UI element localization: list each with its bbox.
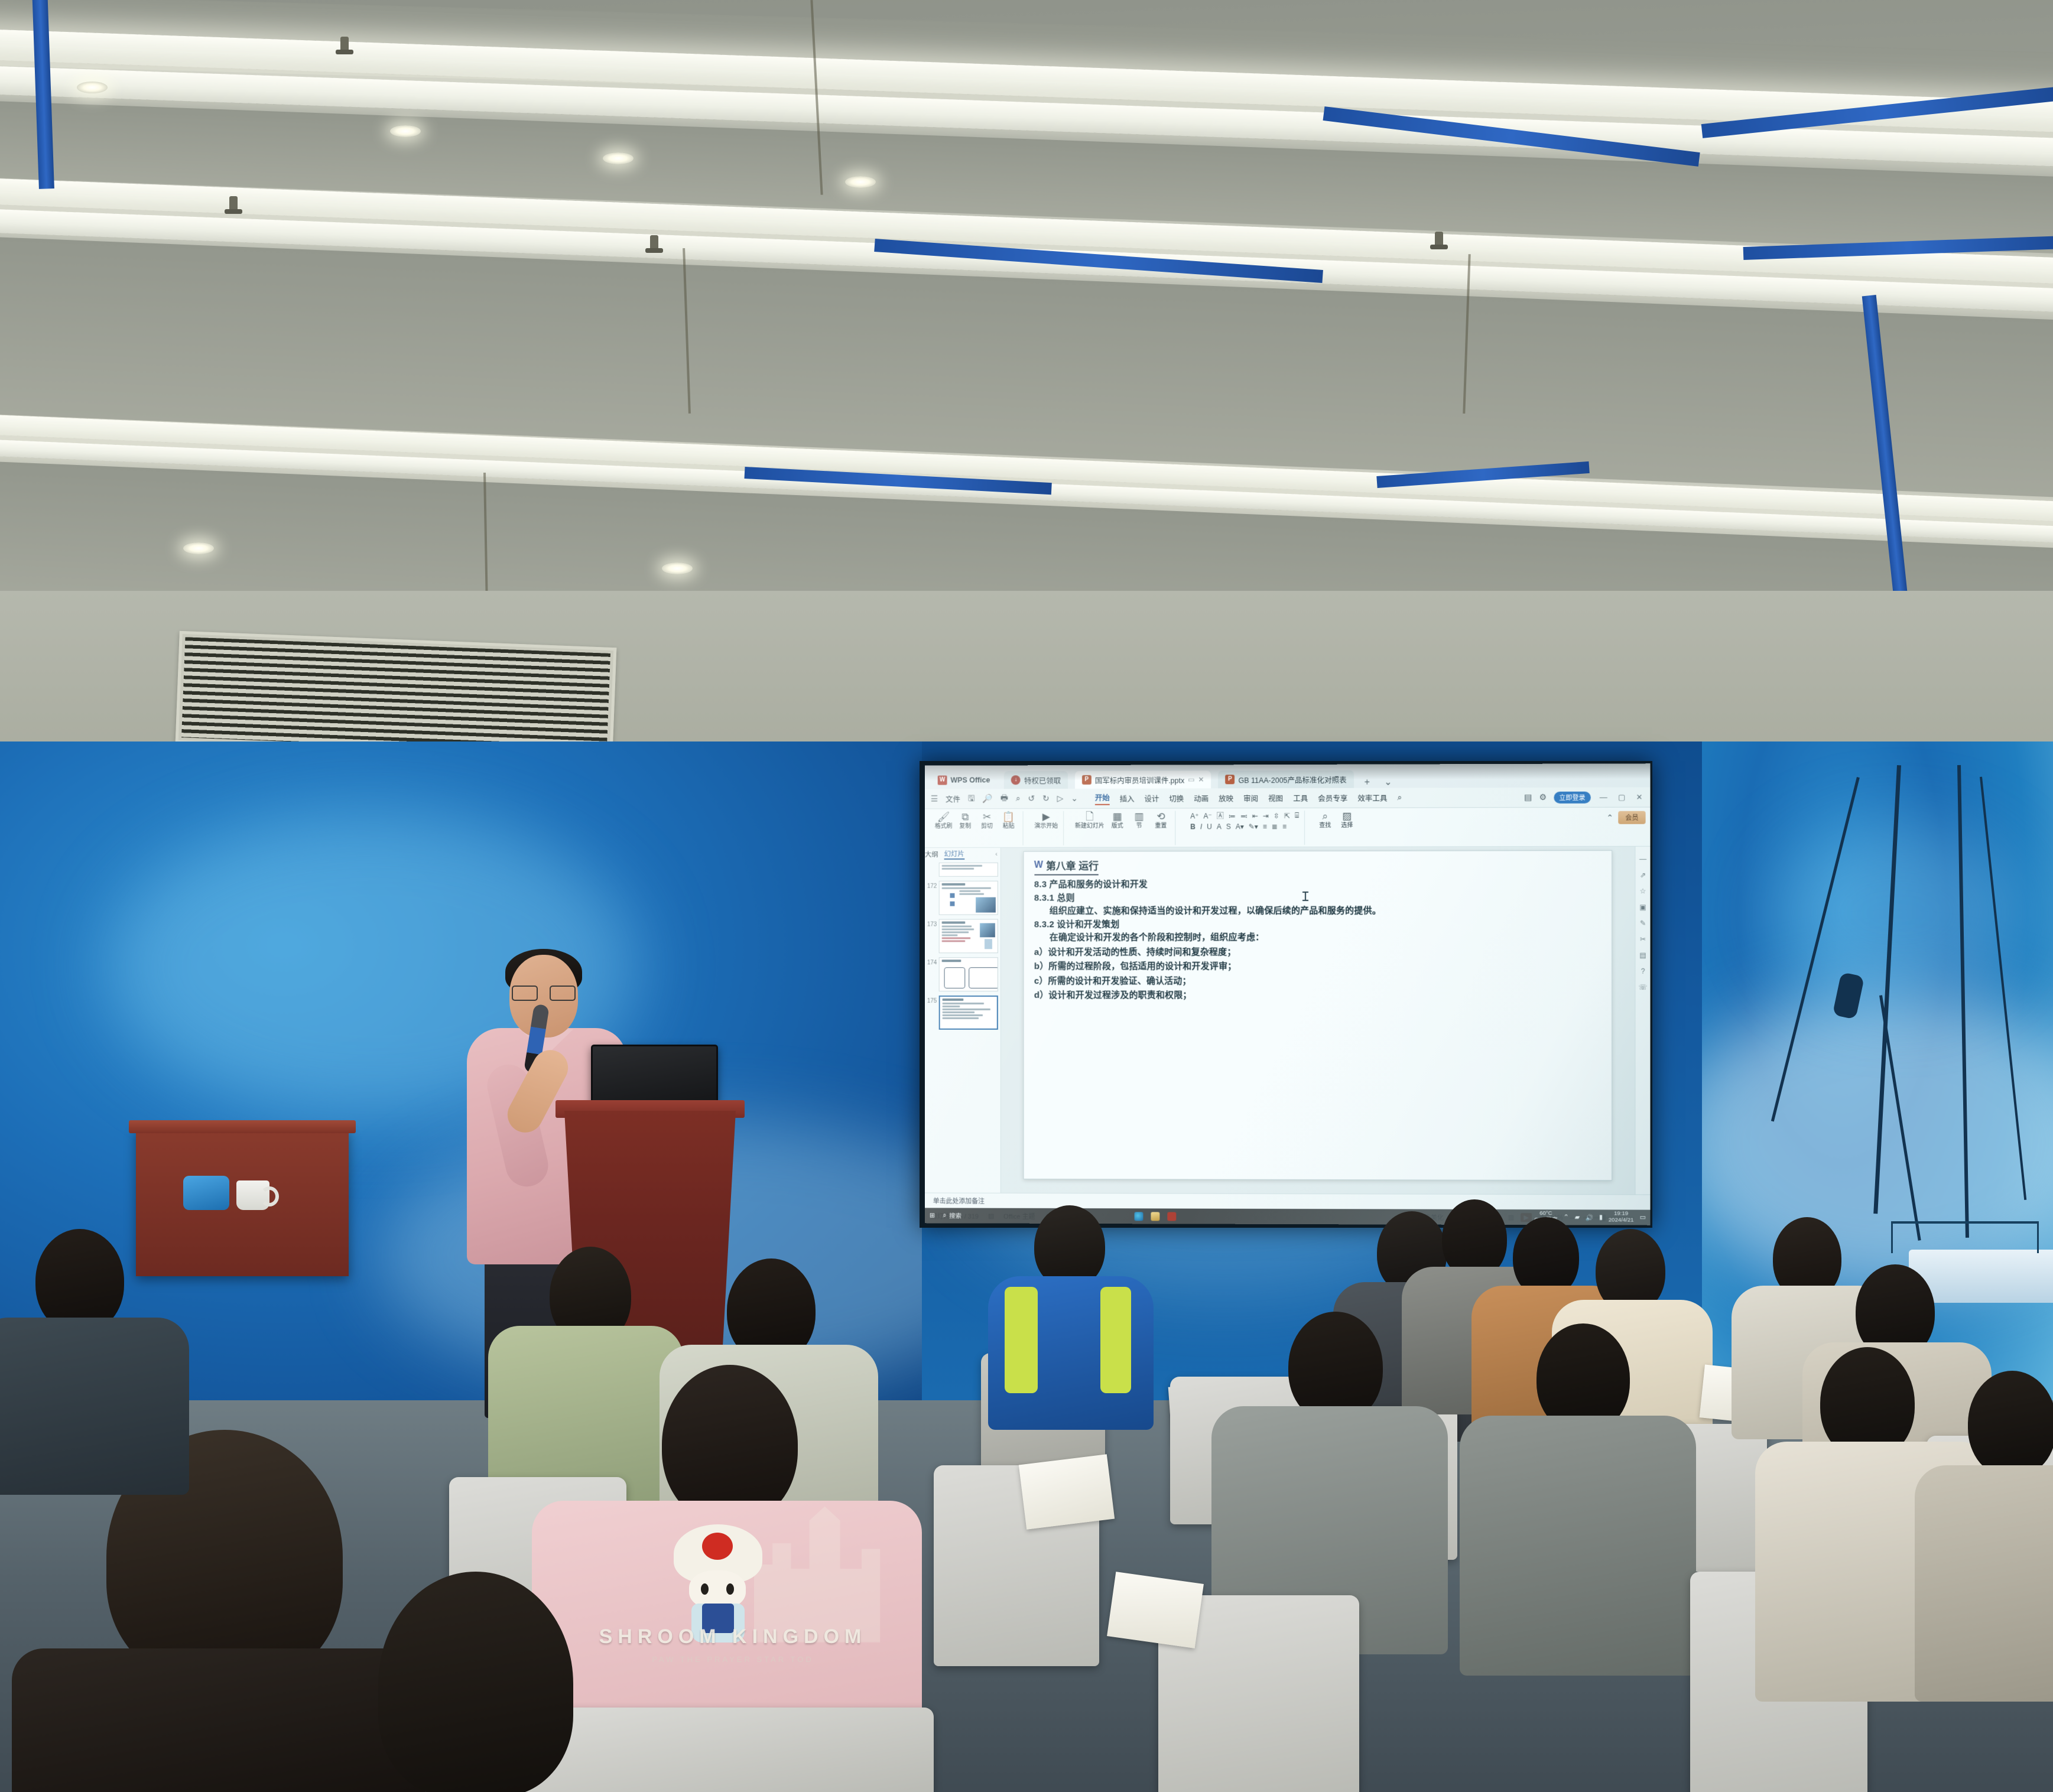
ribbon-tab-design[interactable]: 设计 — [1144, 793, 1159, 804]
print-preview-icon[interactable]: 🔎 — [983, 793, 993, 804]
slide-line: 8.3.1 总则 — [1034, 891, 1602, 905]
ribbon-group-editing: ⌕ 查找 ▨ 选择 — [1311, 811, 1361, 845]
slide-number — [927, 863, 937, 865]
slide-thumbnail-list[interactable]: 172 — [925, 861, 1000, 1193]
layout-icon: ▦ — [1113, 811, 1122, 823]
sprinkler-head — [229, 196, 238, 214]
new-slide-label: 新建幻灯片 — [1075, 823, 1105, 831]
wps-watermark-icon: W — [1034, 860, 1042, 870]
find-icon: ⌕ — [1322, 811, 1328, 822]
search-icon: ⌕ — [943, 1212, 946, 1219]
projection-screen: W WPS Office ↓ 特权已领取 P 国军标内审员培训课件.pptx ▭… — [925, 763, 1651, 1225]
ribbon-right-controls[interactable]: ⌃ 会员 — [1606, 810, 1645, 824]
taskbar-apps[interactable] — [1134, 1212, 1176, 1221]
close-button[interactable]: ✕ — [1635, 792, 1645, 802]
start-show-button[interactable]: ▶ 演示开始 — [1034, 811, 1058, 830]
edit-icon[interactable]: ✎ — [1640, 919, 1646, 927]
new-slide-icon: 🗋 — [1086, 811, 1094, 823]
ribbon-tab-membership[interactable]: 会员专享 — [1318, 792, 1347, 804]
clock-date: 2024/4/21 — [1609, 1217, 1634, 1224]
ribbon-toolbar[interactable]: 🖌 格式刷 ⧉ 复制 ✂ 剪切 📋 粘贴 — [925, 808, 1651, 848]
ribbon-tab-transitions[interactable]: 切换 — [1169, 792, 1184, 804]
layout-button[interactable]: ▦ 版式 — [1109, 811, 1126, 830]
reset-button[interactable]: ⟲ 重置 — [1152, 811, 1170, 830]
slide-number: 172 — [927, 881, 937, 890]
slide-thumbnail[interactable] — [939, 881, 998, 915]
right-sidebar-rail[interactable]: — ⇗ ☆ ▣ ✎ ✂ ▤ ? ☏ — [1635, 847, 1650, 1195]
slide-thumbnail[interactable] — [939, 919, 998, 953]
notification-icon[interactable]: ▭ — [1640, 1214, 1646, 1221]
undo-icon[interactable]: ↺ — [1028, 793, 1035, 804]
slide-line: 在确定设计和开发的各个阶段和控制时，组织应考虑： — [1034, 931, 1602, 945]
start-show-label: 演示开始 — [1034, 823, 1058, 831]
notes-placeholder: 单击此处添加备注 — [933, 1196, 985, 1205]
decrease-font-icon[interactable]: A⁻ — [1204, 812, 1212, 820]
screen-top-shadow — [925, 763, 1651, 780]
save-icon[interactable]: 🖫 — [968, 792, 975, 806]
toad-character-icon — [674, 1524, 762, 1643]
document-icon[interactable]: ▤ — [1524, 792, 1532, 802]
cut-label: 剪切 — [981, 823, 993, 830]
search-icon[interactable]: ⌕ — [1397, 793, 1402, 803]
paste-button[interactable]: 📋 粘贴 — [1000, 811, 1018, 830]
find-label: 查找 — [1319, 822, 1331, 830]
section-button[interactable]: ▥ 节 — [1131, 811, 1148, 831]
battery-icon[interactable]: ▮ — [1599, 1214, 1603, 1221]
toad-eye — [726, 1583, 734, 1595]
minimize-rail-icon[interactable]: — — [1639, 855, 1646, 863]
reset-icon: ⟲ — [1157, 811, 1165, 822]
ribbon-group-font: A⁺ A⁻ 🄰 ≔ ≕ ⇤ ⇥ ⇳ ⇱ ⌸ — [1181, 811, 1305, 845]
cut-icon: ✂ — [983, 811, 991, 823]
slide-thumbnail[interactable] — [939, 957, 998, 991]
align-center-icon: ≣ — [1272, 822, 1278, 831]
slide-line: 8.3 产品和服务的设计和开发 — [1034, 877, 1602, 892]
copy-label: 复制 — [959, 823, 971, 830]
quick-access-bar[interactable]: ☰ 文件 🖫 🔎 🖶 ⌕ ↺ ↻ ▷ ⌄ 开始 插入 设计 切换 动画 — [925, 787, 1651, 809]
list-item[interactable]: 174 — [927, 957, 998, 991]
handout-paper — [1019, 1454, 1115, 1529]
wps-icon[interactable] — [1167, 1212, 1176, 1221]
sprinkler-head — [1435, 232, 1443, 249]
ribbon-tab-view[interactable]: 视图 — [1268, 792, 1283, 804]
help-icon[interactable]: ? — [1641, 967, 1645, 975]
bullet-list-icon: ≔ — [1229, 812, 1236, 820]
wps-office-window[interactable]: W WPS Office ↓ 特权已领取 P 国军标内审员培训课件.pptx ▭… — [925, 763, 1651, 1225]
taskbar-search[interactable]: ⌕ 搜索 — [943, 1211, 961, 1220]
library-icon[interactable]: ▤ — [1639, 951, 1646, 960]
blue-bag — [183, 1176, 229, 1210]
classroom-scene: W WPS Office ↓ 特权已领取 P 国军标内审员培训课件.pptx ▭… — [0, 0, 2053, 1792]
slide-line: 组织应建立、实施和保持适当的设计和开发过程，以确保后续的产品和服务的提供。 — [1034, 904, 1602, 918]
shadow-button[interactable]: A — [1217, 822, 1222, 831]
line-spacing-icon: ⇳ — [1274, 812, 1279, 820]
ribbon-tab-slideshow[interactable]: 放映 — [1219, 792, 1233, 804]
tab-slides[interactable]: 幻灯片 — [944, 849, 964, 860]
sailboat-rail — [1891, 1221, 2039, 1253]
copy-button[interactable]: ⧉ 复制 — [956, 811, 974, 830]
favorite-icon[interactable]: ☆ — [1640, 887, 1646, 895]
paste-icon: 📋 — [1002, 811, 1015, 823]
settings-icon[interactable]: ⚙ — [1539, 792, 1547, 802]
play-icon[interactable]: ▷ — [1057, 793, 1064, 804]
select-label: 选择 — [1341, 822, 1353, 830]
projection-screen-frame: W WPS Office ↓ 特权已领取 P 国军标内审员培训课件.pptx ▭… — [920, 761, 1652, 1228]
tshirt-graphic: SHROOM KINGDOM PAW THE PRAYER STAR TOD — [579, 1489, 886, 1666]
chevron-down-icon[interactable]: ⌄ — [1071, 793, 1078, 804]
align-left-icon: ≡ — [1263, 822, 1267, 831]
align-text-icon: ⌸ — [1295, 811, 1299, 820]
redo-icon[interactable]: ↻ — [1042, 793, 1050, 804]
slide-navigator-panel[interactable]: 大纲 幻灯片 ‹ — [925, 848, 1001, 1193]
window-controls[interactable]: ▤ ⚙ 立即登录 — ▢ ✕ — [1524, 791, 1644, 804]
ceiling-downlight — [183, 542, 214, 554]
select-button[interactable]: ▨ 选择 — [1338, 811, 1356, 830]
font-controls[interactable]: A⁺ A⁻ 🄰 ≔ ≕ ⇤ ⇥ ⇳ ⇱ ⌸ — [1187, 811, 1299, 831]
volume-icon[interactable]: 🔊 — [1586, 1214, 1593, 1221]
slide-line: 8.3.2 设计和开发策划 — [1034, 918, 1602, 931]
menu-icon[interactable]: ☰ — [931, 793, 938, 804]
format-painter-label: 格式刷 — [935, 823, 953, 831]
windows-start-icon[interactable]: ⊞ — [930, 1212, 935, 1219]
copy-icon: ⧉ — [961, 811, 969, 823]
login-button[interactable]: 立即登录 — [1554, 791, 1590, 803]
text-cursor-icon — [1305, 892, 1306, 901]
toad-eye — [701, 1583, 709, 1595]
collapse-ribbon-icon[interactable]: ⌃ — [1606, 812, 1613, 822]
decrease-indent-icon: ⇤ — [1252, 812, 1258, 820]
select-icon: ▨ — [1342, 811, 1352, 822]
chevron-left-icon[interactable]: ‹ — [995, 851, 998, 858]
highlight-icon: ✎▾ — [1249, 822, 1258, 831]
navigator-tabs[interactable]: 大纲 幻灯片 ‹ — [925, 848, 1000, 861]
slide-number: 175 — [927, 996, 937, 1004]
share-icon[interactable]: ⇗ — [1640, 871, 1646, 879]
slide-line: b）所需的过程阶段，包括适用的设计和开发评审； — [1034, 960, 1602, 974]
ceiling-downlight — [390, 125, 421, 137]
font-row-top[interactable]: A⁺ A⁻ 🄰 ≔ ≕ ⇤ ⇥ ⇳ ⇱ ⌸ — [1190, 811, 1299, 821]
picture-icon[interactable]: ▣ — [1639, 903, 1646, 911]
handout-paper — [1107, 1572, 1204, 1648]
feedback-icon[interactable]: ☏ — [1638, 983, 1647, 991]
format-painter-icon: 🖌 — [937, 811, 950, 823]
search-doc-icon[interactable]: ⌕ — [1016, 793, 1021, 804]
increase-indent-icon: ⇥ — [1263, 812, 1269, 820]
text-direction-icon: ⇱ — [1284, 811, 1290, 819]
tools-icon[interactable]: ✂ — [1640, 935, 1646, 944]
slide-line: a）设计和开发活动的性质、持续时间和复杂程度； — [1034, 945, 1602, 959]
cpu-temp-value: 60°C — [1539, 1210, 1552, 1217]
network-icon[interactable]: ▰ — [1575, 1214, 1580, 1221]
section-label: 节 — [1136, 823, 1142, 830]
notes-pane[interactable]: 单击此处添加备注 — [925, 1192, 1651, 1209]
clock-time: 19:19 — [1614, 1211, 1628, 1217]
paste-label: 粘贴 — [1003, 823, 1015, 830]
current-slide[interactable]: W 第八章 运行 8.3 产品和服务的设计和开发 8.3.1 总则 组织应建立、… — [1023, 850, 1613, 1180]
align-right-icon: ≡ — [1282, 822, 1287, 831]
file-menu-button[interactable]: 文件 — [946, 793, 960, 804]
slide-thumbnail-selected[interactable] — [939, 996, 998, 1030]
font-color-icon: A▾ — [1236, 822, 1244, 831]
slide-number: 173 — [927, 919, 937, 928]
ribbon-tab-home[interactable]: 开始 — [1095, 792, 1110, 805]
ribbon-tab-animations[interactable]: 动画 — [1194, 792, 1209, 804]
maximize-button[interactable]: ▢ — [1616, 792, 1627, 802]
slide-line: c）所需的设计和开发验证、确认活动； — [1034, 974, 1602, 988]
reset-label: 重置 — [1155, 822, 1167, 830]
hvac-vent — [176, 631, 617, 760]
minimize-button[interactable]: — — [1598, 793, 1609, 802]
tab-outline[interactable]: 大纲 — [925, 850, 938, 859]
ceiling-downlight — [845, 176, 876, 188]
list-item[interactable]: 173 — [927, 919, 998, 953]
toad-cap-spot — [702, 1533, 733, 1560]
layout-label: 版式 — [1112, 823, 1123, 831]
ceiling-downlight — [77, 82, 108, 93]
underline-button[interactable]: U — [1207, 822, 1212, 831]
slide-canvas-area[interactable]: W 第八章 运行 8.3 产品和服务的设计和开发 8.3.1 总则 组织应建立、… — [1001, 847, 1635, 1195]
ribbon-tab-review[interactable]: 审阅 — [1243, 792, 1258, 804]
print-icon[interactable]: 🖶 — [1000, 792, 1008, 806]
numbered-list-icon: ≕ — [1240, 812, 1248, 820]
increase-font-icon[interactable]: A⁺ — [1190, 812, 1198, 820]
editor-body: 大纲 幻灯片 ‹ — [925, 847, 1651, 1195]
glasses-icon — [512, 986, 576, 999]
bold-button[interactable]: B — [1190, 822, 1196, 831]
cut-button[interactable]: ✂ 剪切 — [978, 811, 996, 830]
strikethrough-button[interactable]: S — [1226, 822, 1231, 831]
ribbon-tab-efficiency[interactable]: 效率工具 — [1357, 792, 1387, 804]
edge-icon[interactable] — [1134, 1212, 1143, 1221]
side-table-top — [129, 1120, 356, 1133]
cup — [236, 1180, 269, 1210]
list-item[interactable] — [927, 863, 998, 877]
ribbon-tab-insert[interactable]: 插入 — [1120, 793, 1135, 804]
tshirt-sub-text: PAW THE PRAYER STAR TOD — [579, 1655, 886, 1664]
start-show-icon: ▶ — [1042, 811, 1050, 823]
chevron-up-icon[interactable]: ⌃ — [1564, 1214, 1569, 1221]
ceiling-downlight — [603, 152, 634, 164]
list-item[interactable]: 175 — [927, 996, 998, 1030]
page-title: 第八章 运行 — [1046, 858, 1099, 873]
explorer-icon[interactable] — [1151, 1212, 1159, 1221]
section-icon: ▥ — [1135, 811, 1144, 823]
ribbon-group-slides: 🗋 新建幻灯片 ▦ 版式 ▥ 节 ⟲ 重置 — [1070, 811, 1175, 845]
ribbon-group-clipboard: 🖌 格式刷 ⧉ 复制 ✂ 剪切 📋 粘贴 — [930, 811, 1024, 845]
slide-thumbnail[interactable] — [939, 863, 998, 877]
font-row-bottom[interactable]: B I U A S A▾ ✎▾ ≡ ≣ ≡ — [1190, 822, 1299, 831]
hvac-vent-slats — [181, 637, 610, 754]
tshirt-main-text: SHROOM KINGDOM — [579, 1625, 886, 1648]
vip-button[interactable]: 会员 — [1618, 811, 1645, 824]
ribbon-tab-list[interactable]: 开始 插入 设计 切换 动画 放映 审阅 视图 工具 会员专享 效率工具 ⌕ — [1095, 791, 1402, 805]
new-slide-button[interactable]: 🗋 新建幻灯片 — [1075, 811, 1105, 831]
sprinkler-head — [650, 235, 658, 253]
slide-title-row: W 第八章 运行 — [1034, 858, 1099, 876]
list-item[interactable]: 172 — [927, 881, 998, 915]
taskbar-clock[interactable]: 19:19 2024/4/21 — [1609, 1211, 1634, 1224]
format-painter-button[interactable]: 🖌 格式刷 — [935, 811, 953, 830]
italic-button[interactable]: I — [1200, 822, 1202, 831]
slide-line: d）设计和开发过程涉及的职责和权限； — [1034, 989, 1602, 1003]
sprinkler-head — [340, 37, 349, 54]
taskbar-search-label: 搜索 — [949, 1211, 961, 1220]
ribbon-group-slideshow: ▶ 演示开始 — [1029, 811, 1064, 845]
ceiling-downlight — [662, 562, 693, 574]
find-button[interactable]: ⌕ 查找 — [1316, 811, 1334, 830]
slide-number: 174 — [927, 957, 937, 966]
clear-format-icon[interactable]: 🄰 — [1217, 811, 1224, 821]
ribbon-tab-tools[interactable]: 工具 — [1293, 792, 1308, 804]
